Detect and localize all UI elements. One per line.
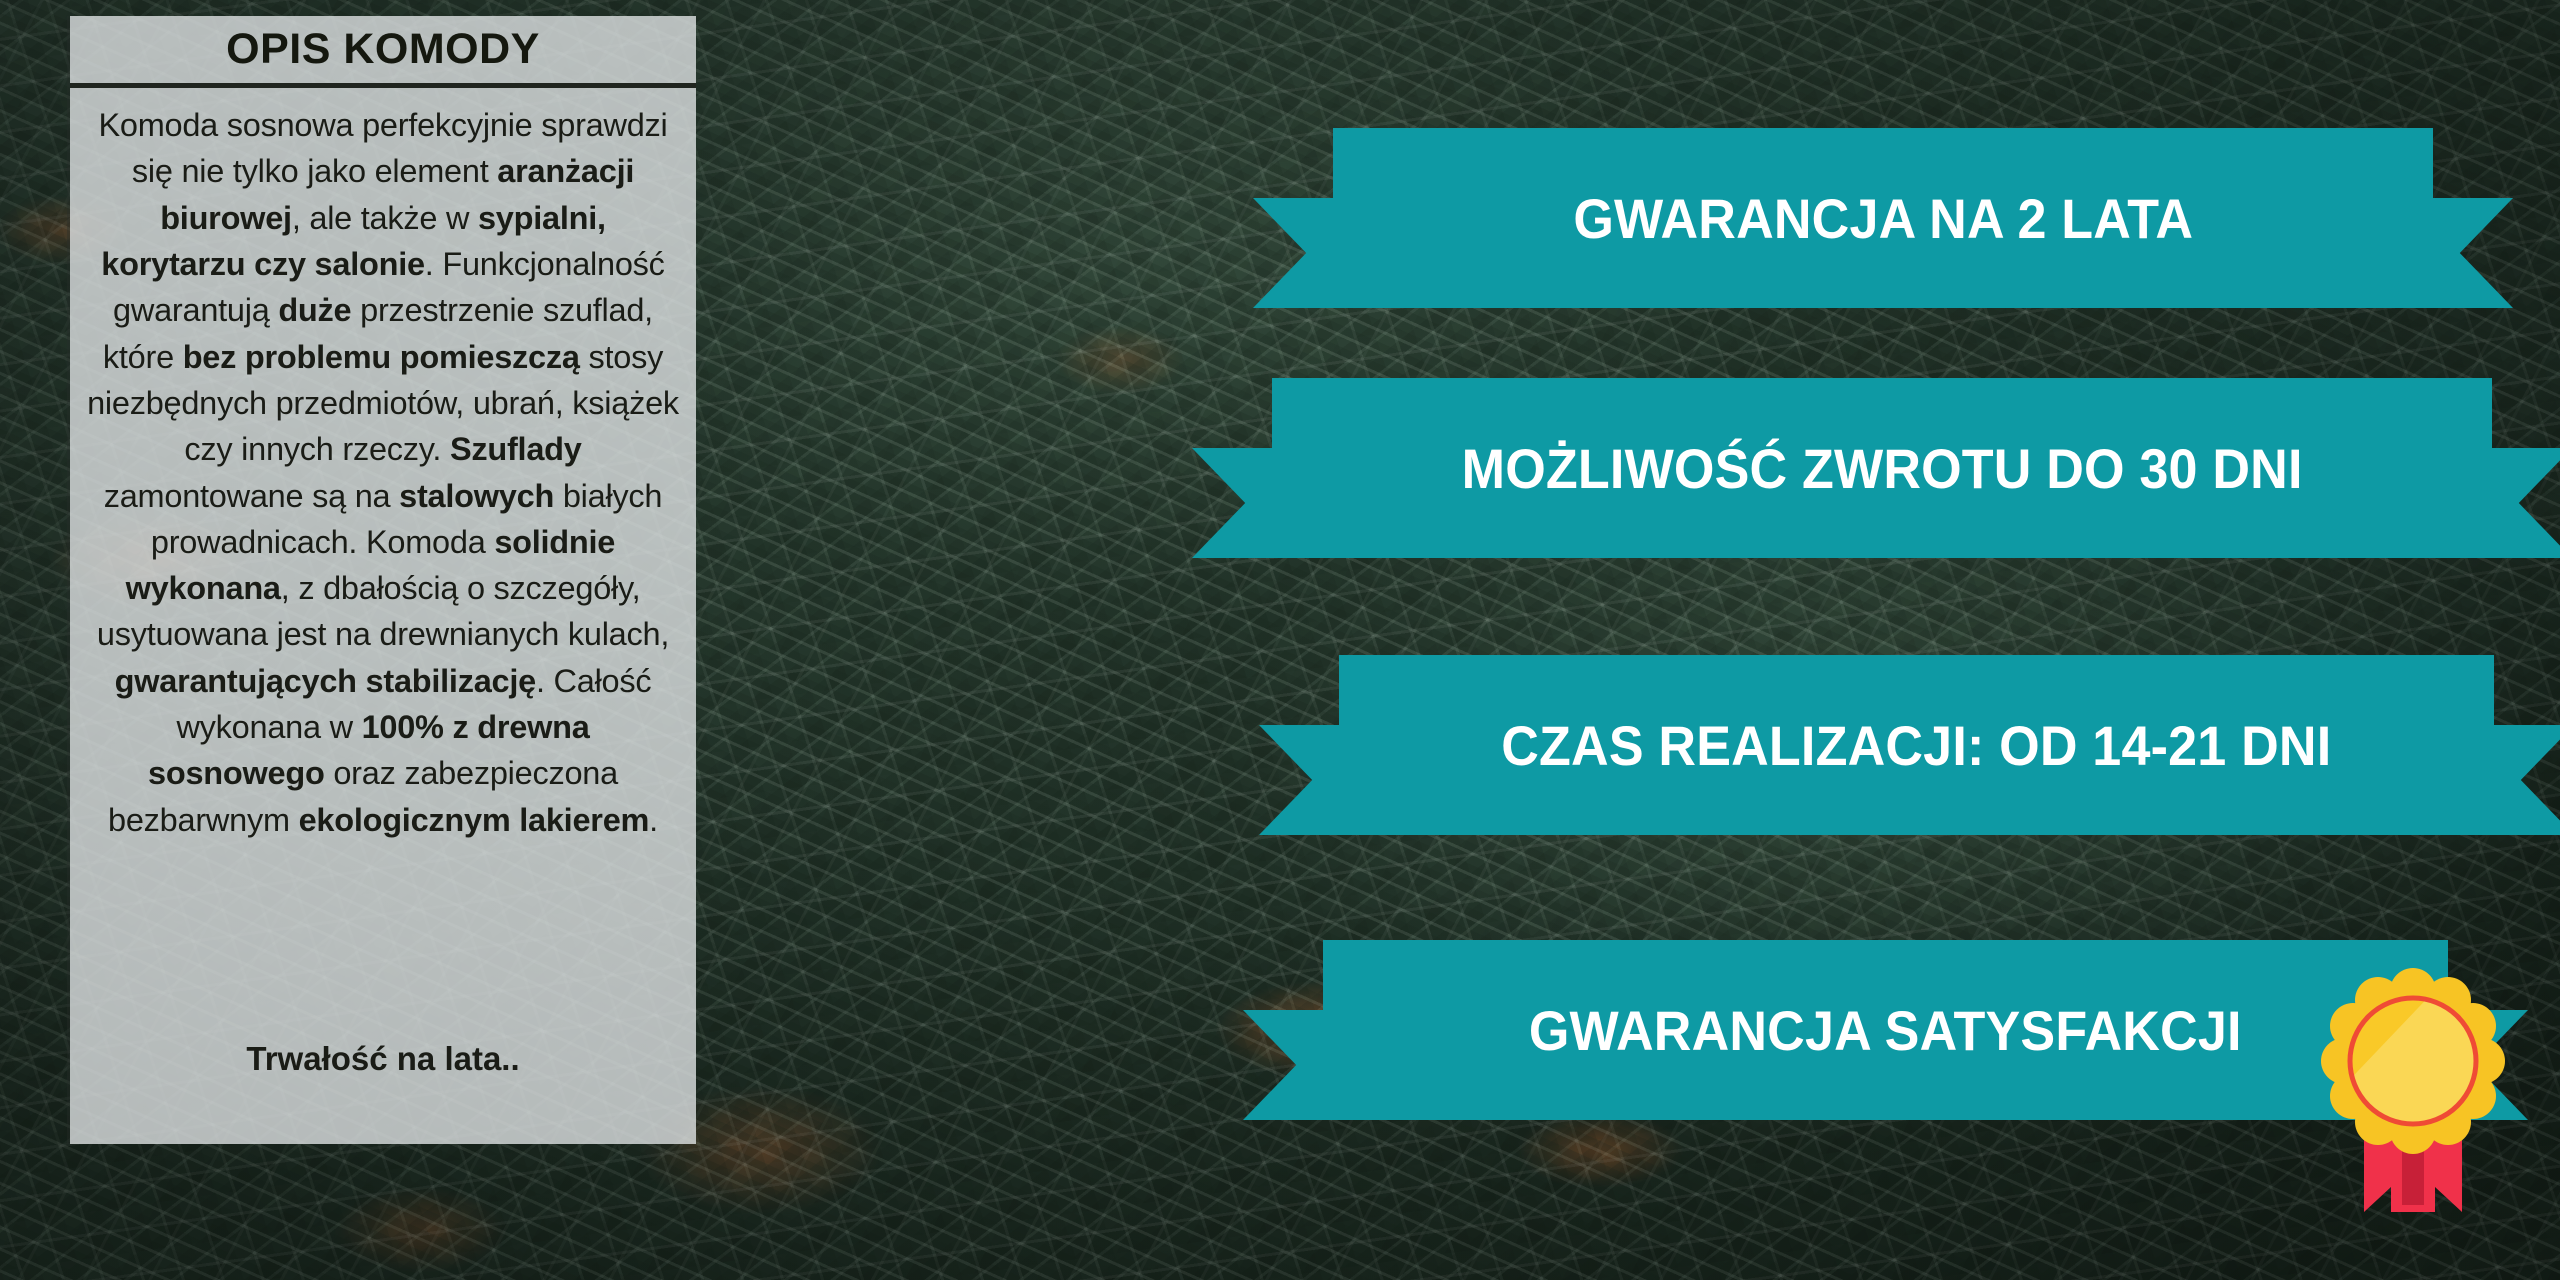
ribbon-label: MOŻLIWOŚĆ ZWROTU DO 30 DNI	[1462, 436, 2303, 501]
description-emphasis: Szuflady	[450, 431, 582, 467]
description-panel: OPIS KOMODY Komoda sosnowa perfekcyjnie …	[70, 16, 696, 1144]
panel-body: Komoda sosnowa perfekcyjnie sprawdzi się…	[70, 88, 696, 1144]
ribbon-plate: GWARANCJA NA 2 LATA	[1333, 128, 2433, 308]
description-run: , ale także w	[292, 200, 478, 236]
signature-tagline: Trwałość na lata..	[86, 1040, 680, 1078]
description-emphasis: gwarantujących stabilizację	[115, 663, 536, 699]
description-run: zamontowane są na	[104, 478, 399, 514]
infographic-canvas: OPIS KOMODY Komoda sosnowa perfekcyjnie …	[0, 0, 2560, 1280]
page-title: OPIS KOMODY	[226, 25, 540, 74]
benefit-ribbon: MOŻLIWOŚĆ ZWROTU DO 30 DNI	[1272, 378, 2492, 558]
ribbon-plate: CZAS REALIZACJI: OD 14-21 DNI	[1339, 655, 2494, 835]
award-rosette-badge	[2318, 965, 2508, 1225]
rosette-medal	[2318, 965, 2508, 1165]
panel-header: OPIS KOMODY	[70, 16, 696, 88]
ribbon-label: GWARANCJA SATYSFAKCJI	[1529, 998, 2242, 1063]
description-emphasis: stalowych	[399, 478, 554, 514]
description-emphasis: bez problemu pomieszczą	[183, 339, 580, 375]
ribbon-label: CZAS REALIZACJI: OD 14-21 DNI	[1501, 713, 2331, 778]
description-emphasis: ekologicznym lakierem	[299, 802, 650, 838]
ribbon-label: GWARANCJA NA 2 LATA	[1573, 186, 2193, 251]
benefit-ribbon: GWARANCJA SATYSFAKCJI	[1323, 940, 2448, 1120]
benefit-ribbon: GWARANCJA NA 2 LATA	[1333, 128, 2433, 308]
description-run: .	[649, 802, 658, 838]
description-text: Komoda sosnowa perfekcyjnie sprawdzi się…	[86, 102, 680, 843]
ribbon-plate: MOŻLIWOŚĆ ZWROTU DO 30 DNI	[1272, 378, 2492, 558]
benefit-ribbon: CZAS REALIZACJI: OD 14-21 DNI	[1339, 655, 2494, 835]
description-emphasis: duże	[278, 292, 351, 328]
ribbon-plate: GWARANCJA SATYSFAKCJI	[1323, 940, 2448, 1120]
